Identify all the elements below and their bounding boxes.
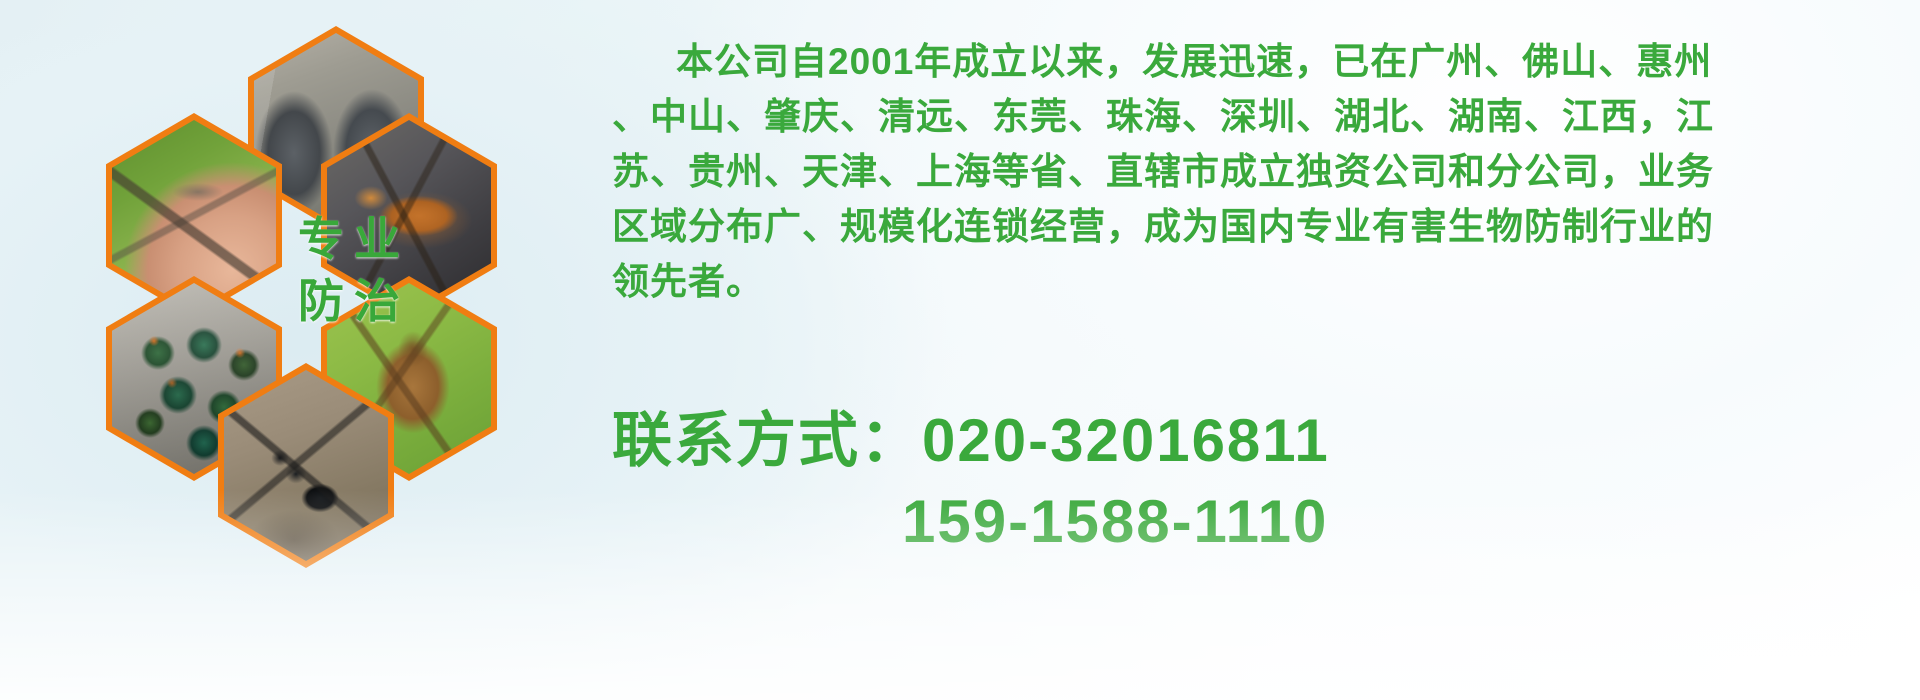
- description-line-3: 苏、贵州、天津、上海等省、直辖市成立独资公司和分公司，业务: [612, 144, 1902, 199]
- contact-mobile[interactable]: 159-1588-1110: [612, 482, 1902, 562]
- slogan-line-2: 防治: [274, 270, 434, 332]
- contact-block: 联系方式：020-32016811 159-1588-1110: [612, 400, 1902, 562]
- contact-phone[interactable]: 联系方式：020-32016811: [612, 400, 1902, 482]
- description-line-4: 区域分布广、规模化连锁经营，成为国内专业有害生物防制行业的: [612, 199, 1902, 254]
- description-line-2: 、中山、肇庆、清远、东莞、珠海、深圳、湖北、湖南、江西，江: [612, 89, 1902, 144]
- pest-control-banner: 专业 防治 本公司自2001年成立以来，发展迅速，已在广州、佛山、惠州 、中山、…: [0, 0, 1920, 700]
- company-description: 本公司自2001年成立以来，发展迅速，已在广州、佛山、惠州 、中山、肇庆、清远、…: [612, 34, 1902, 309]
- slogan: 专业 防治: [274, 208, 434, 332]
- slogan-line-1: 专业: [274, 208, 434, 270]
- description-line-5: 领先者。: [612, 254, 1902, 309]
- hex-photo-collage: 专业 防治: [78, 8, 588, 553]
- ant-image: [224, 370, 388, 561]
- ant-photo-frame: [224, 370, 388, 561]
- description-line-1: 本公司自2001年成立以来，发展迅速，已在广州、佛山、惠州: [612, 34, 1902, 89]
